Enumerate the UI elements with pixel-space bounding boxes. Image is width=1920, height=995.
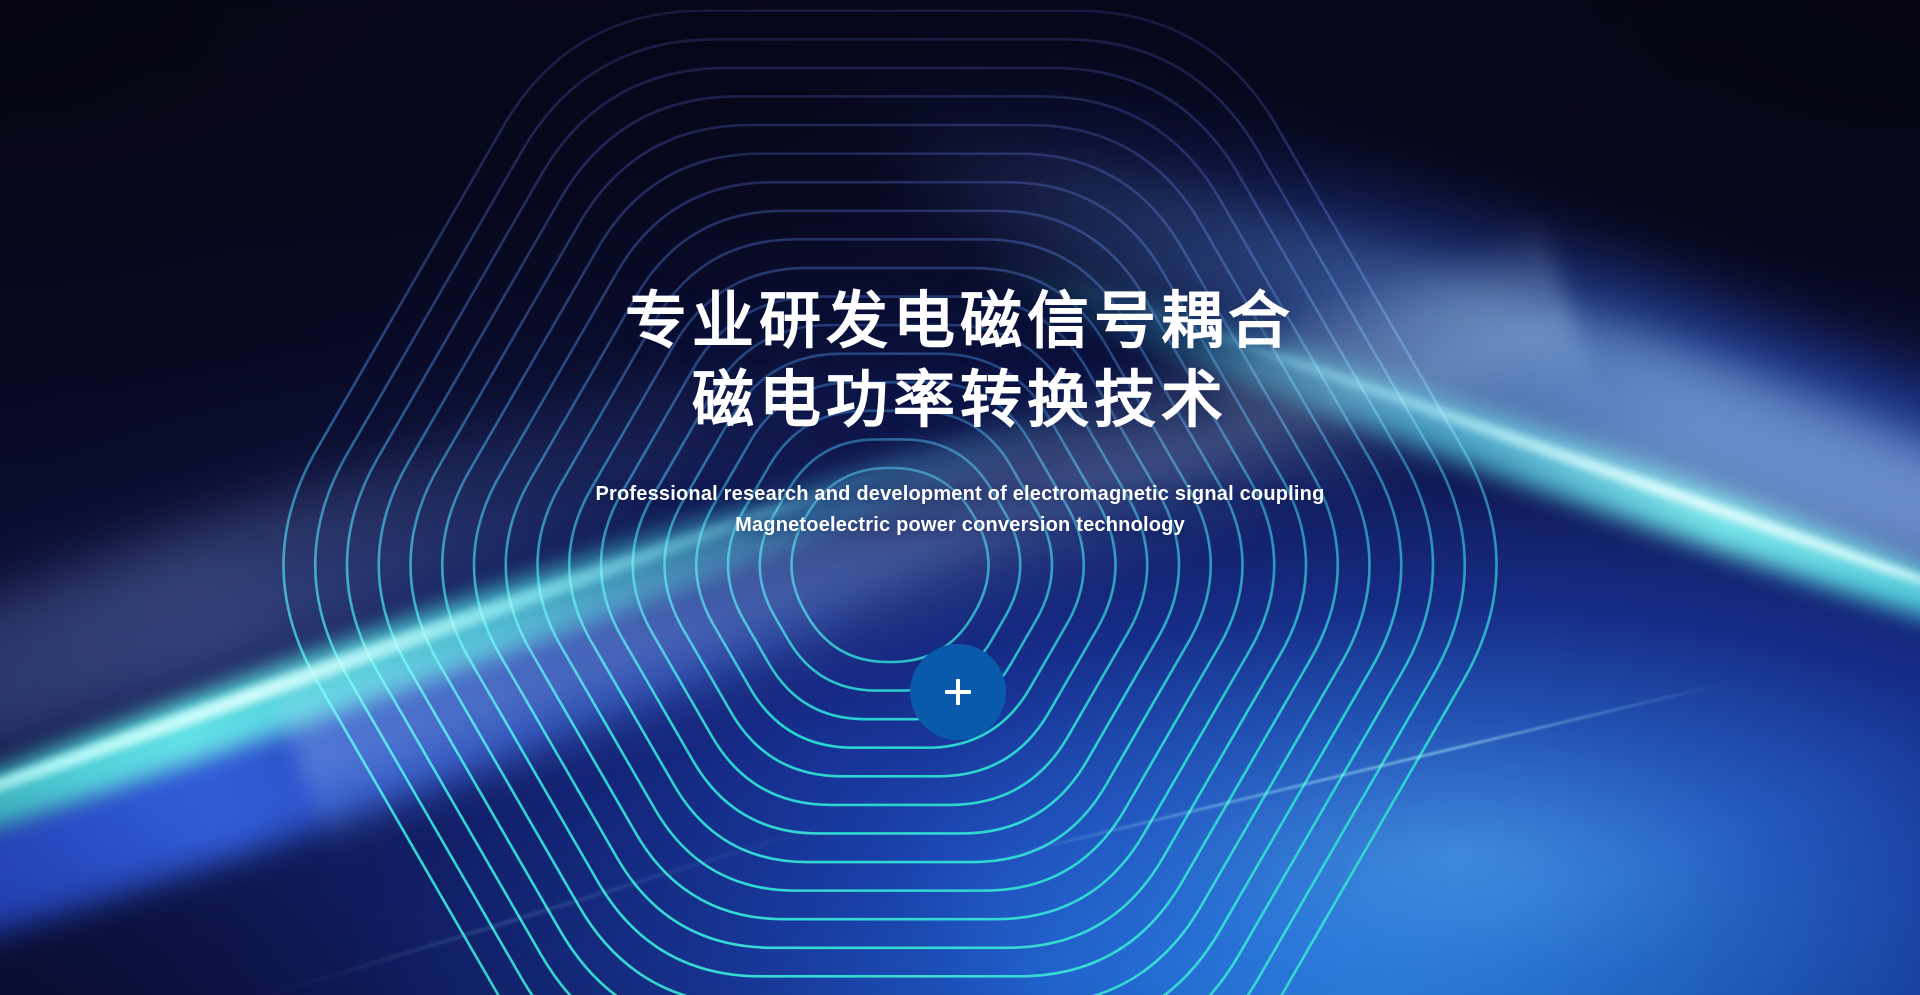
plus-icon [945,679,971,705]
expand-plus-button[interactable] [910,644,1006,740]
hero-content: 专业研发电磁信号耦合 磁电功率转换技术 Professional researc… [0,0,1920,995]
hero-title-line-1: 专业研发电磁信号耦合 [625,282,1295,361]
hero-title: 专业研发电磁信号耦合 磁电功率转换技术 [625,282,1295,441]
hero-subtitle-line-1: Professional research and development of… [595,479,1324,511]
hero-subtitle-line-2: Magnetoelectric power conversion technol… [595,510,1324,542]
hero-title-line-2: 磁电功率转换技术 [625,361,1295,440]
hero-banner: 专业研发电磁信号耦合 磁电功率转换技术 Professional researc… [0,0,1920,995]
hero-subtitle: Professional research and development of… [595,479,1324,542]
